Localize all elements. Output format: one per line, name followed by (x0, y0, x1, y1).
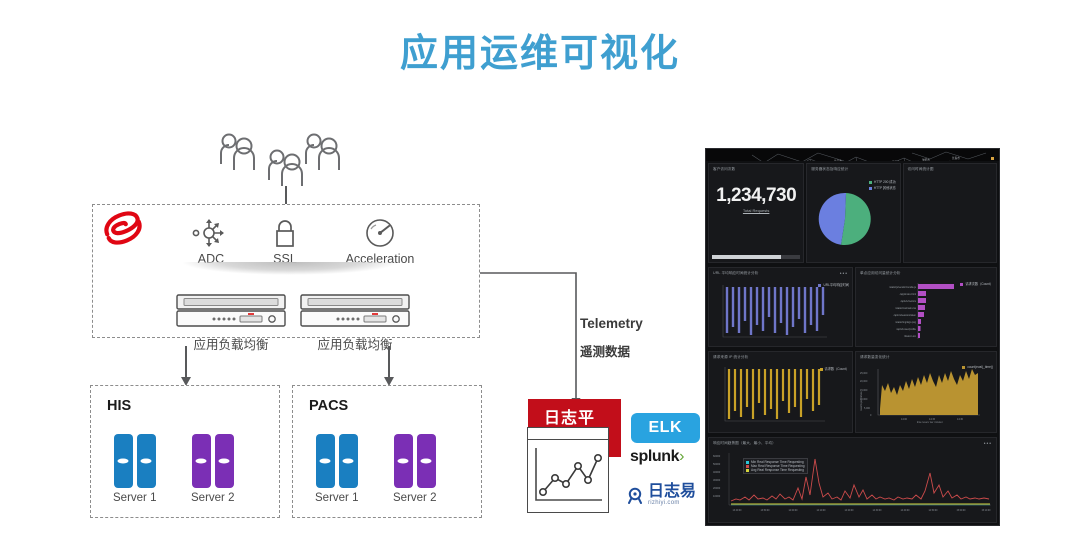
pacs-server-1-label: Server 1 (315, 492, 358, 504)
svg-text:14:50:00: 14:50:00 (929, 510, 939, 512)
svg-text:20,000: 20,000 (860, 380, 868, 383)
svg-text:_time (every per minute): _time (every per minute) (914, 421, 942, 423)
server-icon (191, 434, 234, 488)
svg-text:北京市: 北京市 (834, 159, 842, 161)
svg-text:14:30: 14:30 (957, 418, 964, 421)
svg-text:/static/img/logo.png: /static/img/logo.png (895, 321, 916, 324)
panel-status-pie[interactable]: 服务器状态及响应统计 HTTP 200 成功 HTTP 其他状态 (806, 163, 900, 263)
svg-text:/static/css/main.css: /static/css/main.css (895, 307, 916, 310)
his-server-2-label: Server 2 (191, 492, 234, 504)
total-requests-value: 1,234,730 (709, 185, 803, 207)
arrow-to-pacs (388, 346, 390, 378)
region-map-icon: 兰州市西安市 呼和浩特北京市 石家庄济南市 沈阳市长春市 (706, 149, 999, 161)
svg-text:50000: 50000 (713, 462, 721, 466)
svg-text:/api/v1/user/profile: /api/v1/user/profile (896, 328, 916, 331)
panel-top-uri-title: 单点应用访问量统计分析 (856, 268, 996, 277)
response-line-legend: Min Real Response Time Requesting Max Re… (743, 458, 808, 474)
panel-menu-icon[interactable]: ••• (840, 271, 848, 277)
panel-volume-area[interactable]: 请求数量变化统计 25,00020,000 15,00010,000 5,000… (855, 351, 997, 433)
feature-acceleration: Acceleration (315, 216, 445, 266)
his-server-1: Server 1 (113, 434, 156, 504)
svg-text:14:00:00: 14:00:00 (789, 510, 799, 512)
server-icon (393, 434, 436, 488)
pacs-server-2: Server 2 (393, 434, 436, 504)
total-requests-sub: Total Requests (709, 208, 803, 213)
system-box-his: HIS Server 1 Server 2 (90, 385, 280, 518)
svg-text:14:40:00: 14:40:00 (901, 510, 911, 512)
line-chart-icon (527, 427, 609, 513)
monitoring-dashboard[interactable]: 兰州市西安市 呼和浩特北京市 石家庄济南市 沈阳市长春市 客户访问次数 1,23… (705, 148, 1000, 526)
svg-text:60000: 60000 (713, 454, 721, 458)
users-group (218, 132, 358, 192)
rizhiyi-logo: 日志易 rizhiyi.com (628, 484, 696, 506)
panel-scrollbar[interactable] (712, 255, 800, 259)
svg-text:14:30:00: 14:30:00 (873, 510, 883, 512)
svg-text:济南市: 济南市 (892, 160, 900, 161)
pacs-server-1: Server 1 (315, 434, 358, 504)
panel-top-uri[interactable]: 单点应用访问量统计分析 /static/js/vendor.bundle.js … (855, 267, 997, 347)
client-ip-legend: 请求数（Count） (820, 366, 849, 371)
arrow-to-his (185, 346, 187, 378)
svg-text:25,000: 25,000 (860, 372, 868, 375)
panel-response-line-title: 响应时间趋势图（最大、最小、平均） (709, 438, 996, 447)
svg-text:20000: 20000 (713, 486, 721, 490)
load-balancer-2-label: 应用负载均衡 (300, 334, 410, 353)
svg-text:0: 0 (870, 414, 872, 417)
system-box-pacs: PACS Server 1 Server 2 (292, 385, 482, 518)
splunk-logo: splunk› (630, 448, 684, 466)
svg-text:/api/v1/metrics: /api/v1/metrics (901, 300, 917, 303)
svg-text:13:40:00: 13:40:00 (733, 510, 743, 512)
splunk-arrow-icon: › (679, 448, 684, 465)
svg-text:/static/js/vendor.bundle.js: /static/js/vendor.bundle.js (889, 286, 917, 289)
chart-card-header (528, 428, 608, 440)
panel-access-time-title: 访问时间统计图 (904, 164, 996, 173)
pacs-server-2-label: Server 2 (393, 492, 436, 504)
svg-text:15:00:00: 15:00:00 (957, 510, 967, 512)
panel-url-response[interactable]: URL 平均响应时间统计分析 ••• URL平均响应时间 (708, 267, 853, 347)
url-response-legend: URL平均响应时间 (818, 282, 849, 287)
adc-feature-row: ADC SSL Acceleration (175, 216, 440, 270)
panel-client-ip-title: 请求来源 IP 统计分析 (709, 352, 852, 361)
elk-badge[interactable]: ELK (631, 413, 701, 443)
user-pair-icon (266, 148, 308, 193)
his-server-1-label: Server 1 (113, 492, 156, 504)
rizhiyi-mark-icon (628, 487, 645, 504)
top-uri-legend: 请求次数（Count） (960, 281, 993, 286)
svg-text:13:50:00: 13:50:00 (761, 510, 771, 512)
system-title-pacs: PACS (309, 398, 348, 414)
svg-text:14:00: 14:00 (901, 418, 908, 421)
speedometer-gauge-icon (315, 216, 445, 250)
his-server-2: Server 2 (191, 434, 234, 504)
splunk-logo-text: splunk (630, 448, 679, 465)
panel-status-pie-title: 服务器状态及响应统计 (807, 164, 899, 173)
volume-area-chart: 25,00020,000 15,00010,000 5,0000 14:0014… (856, 361, 997, 423)
panel-total-requests[interactable]: 客户访问次数 1,234,730 Total Requests (708, 163, 804, 263)
panel-menu-icon[interactable]: ••• (984, 441, 992, 447)
pie-legend-item-2: HTTP 其他状态 (869, 185, 896, 190)
telemetry-label: Telemetry 遥测数据 (580, 316, 643, 360)
svg-text:14:10:00: 14:10:00 (817, 510, 827, 512)
telemetry-label-en: Telemetry (580, 316, 643, 331)
svg-text:沈阳市: 沈阳市 (922, 158, 930, 161)
dashboard-row-1: 客户访问次数 1,234,730 Total Requests 服务器状态及响应… (706, 161, 999, 265)
rizhiyi-logo-text: 日志易 (648, 484, 696, 500)
system-title-his: HIS (107, 398, 131, 414)
svg-text:/favicon.ico: /favicon.ico (904, 335, 917, 338)
panel-client-ip[interactable]: 请求来源 IP 统计分析 请求数（Count） (708, 351, 853, 433)
load-balancer-1: 应用负载均衡 (176, 294, 286, 353)
svg-text:40000: 40000 (713, 470, 721, 474)
radware-swirl-logo (100, 210, 146, 246)
dashboard-row-2: URL 平均响应时间统计分析 ••• URL平均响应时间 (706, 265, 999, 349)
panel-volume-area-title: 请求数量变化统计 (856, 352, 996, 361)
top-uri-bar-chart: /static/js/vendor.bundle.js /app/index.h… (856, 277, 997, 341)
svg-text:10000: 10000 (713, 494, 721, 498)
svg-text:Events per minute: Events per minute (860, 391, 863, 411)
panel-access-time[interactable]: 访问时间统计图 (903, 163, 997, 263)
server-icon (113, 434, 156, 488)
dashboard-row-3: 请求来源 IP 统计分析 请求数（Count） 请求数量变化统计 (706, 349, 999, 435)
svg-text:14:20:00: 14:20:00 (845, 510, 855, 512)
architecture-diagram: ADC SSL Acceleration (0, 0, 700, 541)
panel-response-line[interactable]: 响应时间趋势图（最大、最小、平均） ••• 6000050000 4000030… (708, 437, 997, 523)
svg-text:长春市: 长春市 (952, 156, 960, 160)
load-balancer-1-label: 应用负载均衡 (176, 334, 286, 353)
load-balancer-2: 应用负载均衡 (300, 294, 410, 353)
svg-text:/app/index.html: /app/index.html (900, 293, 917, 296)
panel-url-response-title: URL 平均响应时间统计分析 (709, 268, 852, 277)
dashboard-row-4: 响应时间趋势图（最大、最小、平均） ••• 6000050000 4000030… (706, 435, 999, 525)
pie-legend-item-1: HTTP 200 成功 (869, 179, 896, 184)
user-pair-icon (218, 132, 260, 177)
server-icon (315, 434, 358, 488)
svg-text:30000: 30000 (713, 478, 721, 482)
panel-total-requests-title: 客户访问次数 (709, 164, 803, 173)
rizhiyi-domain: rizhiyi.com (648, 500, 696, 506)
svg-text:/api/v1/session/token: /api/v1/session/token (894, 314, 917, 317)
telemetry-label-cn: 遥测数据 (580, 341, 643, 360)
volume-area-legend: count(eval(_time)) (962, 365, 993, 369)
svg-text:5,000: 5,000 (864, 407, 871, 410)
user-pair-icon (303, 132, 345, 177)
svg-text:15:10:00: 15:10:00 (982, 510, 992, 512)
